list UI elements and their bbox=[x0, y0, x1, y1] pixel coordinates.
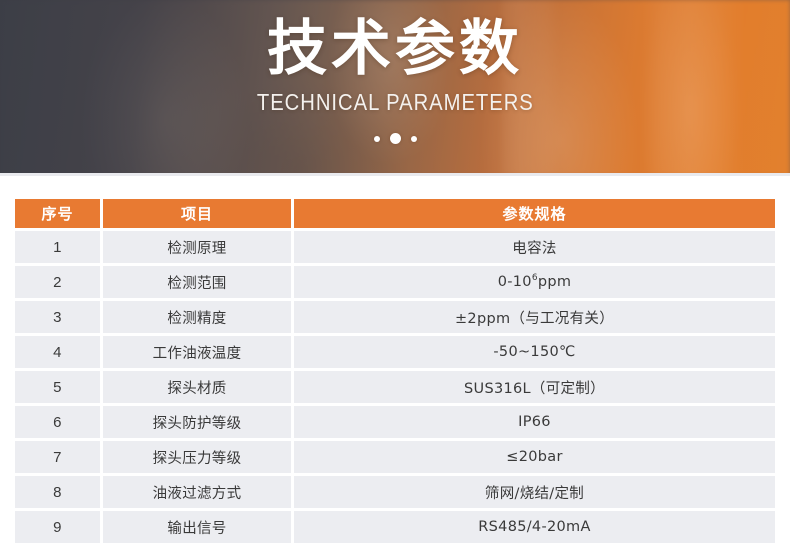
column-header-no: 序号 bbox=[15, 199, 100, 228]
table-row: 8油液过滤方式筛网/烧结/定制 bbox=[15, 476, 775, 508]
table-row: 5探头材质SUS316L（可定制） bbox=[15, 371, 775, 403]
column-header-item: 项目 bbox=[103, 199, 291, 228]
parameters-table: 序号 项目 参数规格 1检测原理电容法2检测范围0-106ppm3检测精度±2p… bbox=[12, 196, 778, 546]
column-header-spec: 参数规格 bbox=[294, 199, 775, 228]
cell-row-number: 8 bbox=[15, 476, 100, 508]
spec-base: 0-10 bbox=[498, 274, 532, 290]
cell-item-name: 工作油液温度 bbox=[103, 336, 291, 368]
cell-item-name: 输出信号 bbox=[103, 511, 291, 543]
cell-item-name: 探头压力等级 bbox=[103, 441, 291, 473]
table-row: 4工作油液温度-50~150℃ bbox=[15, 336, 775, 368]
cell-spec-value: SUS316L（可定制） bbox=[294, 371, 775, 403]
decorative-dots bbox=[374, 133, 417, 144]
cell-row-number: 7 bbox=[15, 441, 100, 473]
table-row: 9输出信号RS485/4-20mA bbox=[15, 511, 775, 543]
cell-row-number: 6 bbox=[15, 406, 100, 438]
cell-spec-value: 筛网/烧结/定制 bbox=[294, 476, 775, 508]
parameters-table-wrapper: 序号 项目 参数规格 1检测原理电容法2检测范围0-106ppm3检测精度±2p… bbox=[12, 196, 778, 546]
cell-item-name: 探头防护等级 bbox=[103, 406, 291, 438]
cell-item-name: 检测精度 bbox=[103, 301, 291, 333]
table-row: 3检测精度±2ppm（与工况有关） bbox=[15, 301, 775, 333]
dot-icon-left bbox=[374, 136, 380, 142]
cell-item-name: 检测范围 bbox=[103, 266, 291, 298]
dot-icon-right bbox=[411, 136, 417, 142]
cell-spec-value: 电容法 bbox=[294, 231, 775, 263]
cell-spec-value: 0-106ppm bbox=[294, 266, 775, 298]
cell-row-number: 4 bbox=[15, 336, 100, 368]
table-header: 序号 项目 参数规格 bbox=[15, 199, 775, 228]
table-row: 6探头防护等级IP66 bbox=[15, 406, 775, 438]
cell-spec-value: ±2ppm（与工况有关） bbox=[294, 301, 775, 333]
spec-tail: ppm bbox=[538, 274, 571, 290]
cell-row-number: 1 bbox=[15, 231, 100, 263]
banner-content: 技术参数 TECHNICAL PARAMETERS bbox=[0, 0, 790, 176]
cell-item-name: 检测原理 bbox=[103, 231, 291, 263]
page-subtitle: TECHNICAL PARAMETERS bbox=[257, 89, 534, 116]
banner-bottom-divider bbox=[0, 173, 790, 176]
cell-spec-value: RS485/4-20mA bbox=[294, 511, 775, 543]
cell-item-name: 油液过滤方式 bbox=[103, 476, 291, 508]
cell-spec-value: ≤20bar bbox=[294, 441, 775, 473]
table-body: 1检测原理电容法2检测范围0-106ppm3检测精度±2ppm（与工况有关）4工… bbox=[15, 231, 775, 543]
cell-row-number: 5 bbox=[15, 371, 100, 403]
cell-spec-value: IP66 bbox=[294, 406, 775, 438]
cell-row-number: 2 bbox=[15, 266, 100, 298]
cell-spec-value: -50~150℃ bbox=[294, 336, 775, 368]
dot-icon-center bbox=[390, 133, 401, 144]
cell-row-number: 9 bbox=[15, 511, 100, 543]
page-title: 技术参数 bbox=[267, 16, 523, 83]
cell-item-name: 探头材质 bbox=[103, 371, 291, 403]
table-row: 1检测原理电容法 bbox=[15, 231, 775, 263]
page-banner: 技术参数 TECHNICAL PARAMETERS bbox=[0, 0, 790, 176]
table-row: 2检测范围0-106ppm bbox=[15, 266, 775, 298]
table-header-row: 序号 项目 参数规格 bbox=[15, 199, 775, 228]
table-row: 7探头压力等级≤20bar bbox=[15, 441, 775, 473]
cell-row-number: 3 bbox=[15, 301, 100, 333]
